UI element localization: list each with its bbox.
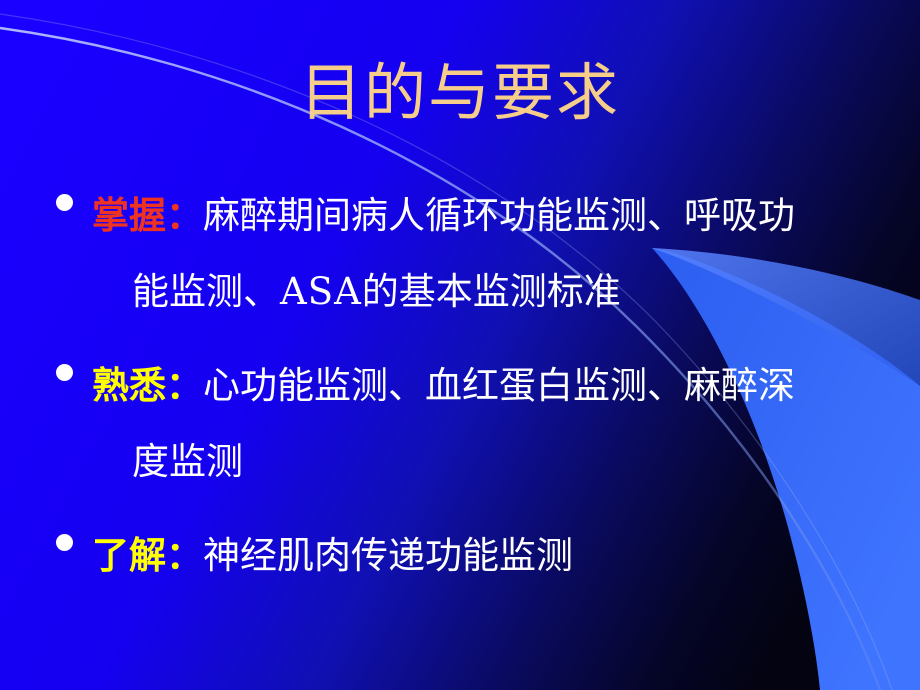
bullet-line-2-prefix: 能监测、 xyxy=(132,270,280,313)
bullet-line-2-acronym: ASA xyxy=(280,270,362,313)
bullet-line-2-prefix: 度监测 xyxy=(132,440,243,483)
bullet-line-2: 能监测、ASA的基本监测标准 xyxy=(92,254,912,330)
slide-content: 目的与要求 掌握：麻醉期间病人循环功能监测、呼吸功 能监测、ASA的基本监测标准… xyxy=(0,0,920,690)
bullet-line-2-suffix: 的基本监测标准 xyxy=(362,270,621,313)
bullet-line-1: 心功能监测、血红蛋白监测、麻醉深 xyxy=(203,364,795,407)
bullet-point-icon xyxy=(56,194,73,211)
bullet-lead-label: 熟悉： xyxy=(92,364,203,407)
bullet-point-icon xyxy=(56,364,73,381)
slide-title: 目的与要求 xyxy=(0,62,920,124)
bullet-point-icon xyxy=(56,534,73,551)
bullet-line-2: 度监测 xyxy=(92,424,912,500)
list-item: 熟悉：心功能监测、血红蛋白监测、麻醉深 度监测 xyxy=(50,348,912,500)
bullet-text-block: 了解：神经肌肉传递功能监测 xyxy=(92,518,912,594)
bullet-text-block: 熟悉：心功能监测、血红蛋白监测、麻醉深 度监测 xyxy=(92,348,912,500)
list-item: 了解：神经肌肉传递功能监测 xyxy=(50,518,912,594)
list-item: 掌握：麻醉期间病人循环功能监测、呼吸功 能监测、ASA的基本监测标准 xyxy=(50,178,912,330)
bullet-line-1: 麻醉期间病人循环功能监测、呼吸功 xyxy=(203,194,795,237)
bullet-text-block: 掌握：麻醉期间病人循环功能监测、呼吸功 能监测、ASA的基本监测标准 xyxy=(92,178,912,330)
bullet-line-1: 神经肌肉传递功能监测 xyxy=(203,534,573,577)
bullet-list: 掌握：麻醉期间病人循环功能监测、呼吸功 能监测、ASA的基本监测标准 熟悉：心功… xyxy=(50,178,912,612)
bullet-lead-label: 掌握： xyxy=(92,194,203,237)
bullet-lead-label: 了解： xyxy=(92,534,203,577)
presentation-slide: 目的与要求 掌握：麻醉期间病人循环功能监测、呼吸功 能监测、ASA的基本监测标准… xyxy=(0,0,920,690)
